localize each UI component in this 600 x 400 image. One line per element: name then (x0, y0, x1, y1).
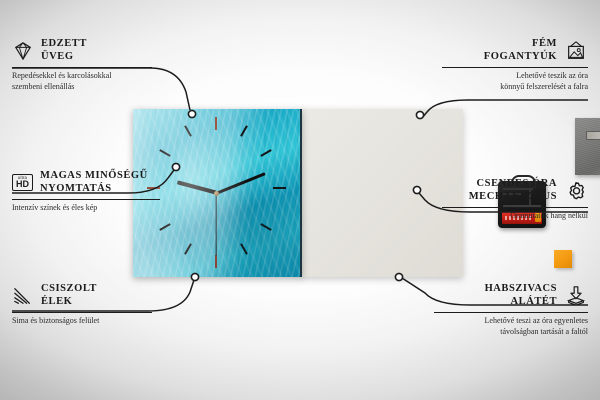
feature-title: CSENDES ÓRA MECHANIZMUS (469, 178, 557, 203)
feature-divider (434, 312, 588, 313)
feature-header: CSISZOLT ÉLEK (12, 283, 152, 308)
feature-title: FÉM FOGANTYÚK (484, 38, 557, 63)
feature-header: ultra HD MAGAS MINŐSÉGŰ NYOMTATÁS (12, 170, 160, 195)
clock-hour-hand (177, 181, 217, 195)
feature-description: Repedésekkel és karcolásokkal szembeni e… (12, 71, 152, 92)
feature-foam-pad[interactable]: HABSZIVACS ALÁTÉT Lehetővé teszi az óra … (434, 283, 588, 337)
wall-mount-picture-icon (564, 40, 588, 62)
feature-quiet-mechanism[interactable]: CSENDES ÓRA MECHANIZMUS Óramutatók hang … (442, 178, 588, 222)
arrow-down-pad-icon (564, 285, 588, 307)
clock-tick (159, 149, 170, 157)
hanger-slot (586, 131, 600, 140)
clock-center-cap (214, 191, 219, 196)
clock-tick (215, 255, 217, 268)
badge-main-label: HD (16, 180, 29, 189)
feature-title: CSISZOLT ÉLEK (41, 283, 97, 308)
clock-minute-hand (215, 172, 265, 195)
product-back-panel (300, 109, 463, 277)
clock-tick (159, 223, 170, 231)
feature-tempered-glass[interactable]: EDZETT ÜVEG Repedésekkel és karcolásokka… (12, 38, 152, 92)
feature-title: HABSZIVACS ALÁTÉT (485, 283, 557, 308)
clock-tick (184, 125, 192, 136)
diamond-icon (12, 41, 34, 61)
feature-description: Lehetővé teszik az óra könnyű felszerelé… (442, 71, 588, 92)
clock-second-hand (215, 193, 216, 255)
feature-polished-edges[interactable]: CSISZOLT ÉLEK Sima és biztonságos felüle… (12, 283, 152, 327)
gear-icon (564, 180, 588, 202)
metal-hanger-part (575, 118, 600, 175)
polished-edges-icon (12, 286, 34, 306)
feature-header: FÉM FOGANTYÚK (442, 38, 588, 63)
feature-divider (12, 312, 152, 313)
feature-title: EDZETT ÜVEG (41, 38, 87, 63)
foam-pad-part (554, 250, 572, 268)
feature-metal-handles[interactable]: FÉM FOGANTYÚK Lehetővé teszik az óra kön… (442, 38, 588, 92)
clock-tick (260, 223, 271, 231)
feature-divider (12, 199, 160, 200)
feature-title: MAGAS MINŐSÉGŰ NYOMTATÁS (40, 170, 148, 195)
clock-tick (260, 149, 271, 157)
feature-description: Lehetővé teszi az óra egyenletes távolsá… (434, 316, 588, 337)
feature-divider (442, 207, 588, 208)
feature-divider (12, 67, 152, 68)
feature-description: Óramutatók hang nélkül (442, 211, 588, 221)
clock-tick (240, 125, 248, 136)
feature-divider (442, 67, 588, 68)
feature-description: Intenzív színek és éles kép (12, 203, 160, 213)
clock-tick (273, 187, 286, 189)
feature-header: HABSZIVACS ALÁTÉT (434, 283, 588, 308)
feature-description: Sima és biztonságos felület (12, 316, 152, 326)
clock-tick (240, 243, 248, 254)
feature-header: EDZETT ÜVEG (12, 38, 152, 63)
feature-header: CSENDES ÓRA MECHANIZMUS (442, 178, 588, 203)
ultra-hd-badge-icon: ultra HD (12, 174, 33, 190)
clock-tick (184, 243, 192, 254)
product-composite (133, 109, 463, 277)
infographic-canvas: EDZETT ÜVEG Repedésekkel és karcolásokka… (0, 0, 600, 400)
feature-high-quality-print[interactable]: ultra HD MAGAS MINŐSÉGŰ NYOMTATÁS Intenz… (12, 170, 160, 214)
clock-tick (215, 117, 217, 130)
